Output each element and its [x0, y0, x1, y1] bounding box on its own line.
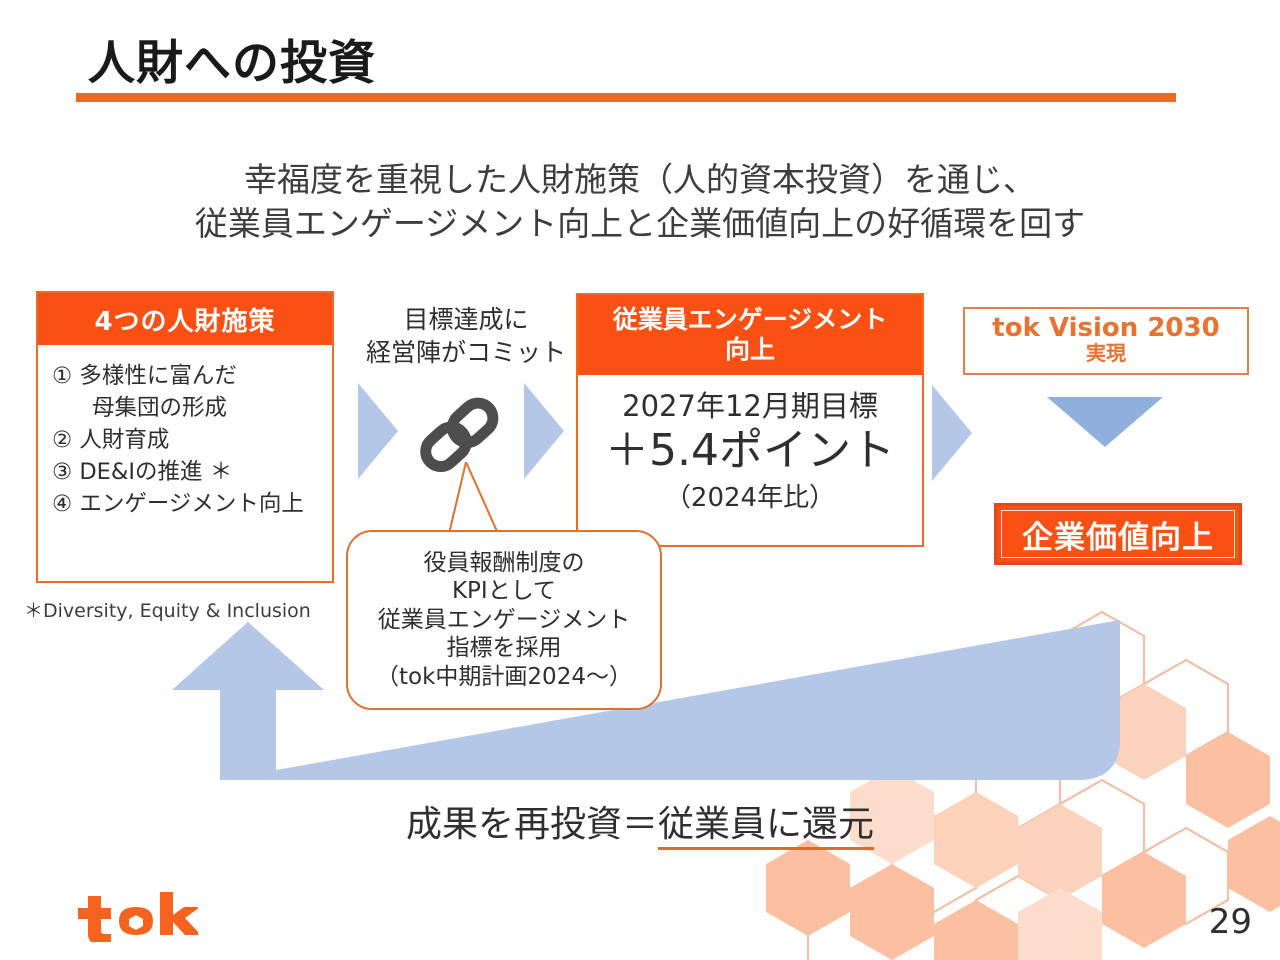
title-underline-rule	[76, 93, 1176, 102]
kpi-callout-line-5: （tok中期計画2024～）	[376, 663, 632, 692]
page-title: 人財への投資	[88, 24, 376, 93]
policy-item-4-text: エンゲージメント向上	[79, 491, 304, 517]
tok-logo	[74, 890, 198, 942]
bottom-caption-underlined: 従業員に還元	[658, 804, 874, 850]
kpi-callout-line-2: KPIとして	[452, 577, 556, 606]
commitment-caption: 目標達成に 経営陣がコミット	[352, 303, 580, 369]
vision-box: tok Vision 2030 実現	[963, 307, 1249, 375]
flow-arrow-middle-icon	[524, 383, 564, 479]
engagement-box-body: 2027年12月期目標 ＋5.4ポイント （2024年比）	[578, 375, 922, 514]
policy-item-2-text: 人財育成	[79, 427, 169, 453]
policy-item-3: ③ DE&Iの推進 ＊	[52, 457, 332, 489]
policy-item-2-number: ②	[52, 427, 72, 453]
policy-item-1: ① 多様性に富んだ	[52, 361, 332, 393]
commitment-line-1: 目標達成に	[352, 303, 580, 336]
engagement-target-value: ＋5.4ポイント	[578, 425, 922, 477]
bottom-caption-prefix: 成果を再投資＝	[406, 804, 658, 845]
policies-box: 4つの人財施策 ① 多様性に富んだ 母集団の形成 ② 人財育成 ③ DE&Iの推…	[36, 291, 334, 583]
policy-item-1-cont: 母集団の形成	[52, 393, 332, 425]
policy-item-4: ④ エンゲージメント向上	[52, 489, 332, 521]
kpi-callout-line-1: 役員報酬制度の	[424, 549, 585, 578]
policies-list: ① 多様性に富んだ 母集団の形成 ② 人財育成 ③ DE&Iの推進 ＊ ④ エン…	[38, 345, 332, 521]
page-number: 29	[1209, 902, 1252, 942]
subtitle-line-2: 従業員エンゲージメント向上と企業価値向上の好循環を回す	[0, 202, 1280, 246]
kpi-callout: 役員報酬制度の KPIとして 従業員エンゲージメント 指標を採用 （tok中期計…	[346, 530, 662, 710]
subtitle-line-1: 幸福度を重視した人財施策（人的資本投資）を通じ、	[0, 158, 1280, 202]
engagement-box: 従業員エンゲージメント 向上 2027年12月期目標 ＋5.4ポイント （202…	[576, 293, 924, 547]
corporate-value-label: 企業価値向上	[1022, 512, 1214, 557]
vision-box-line-2: 実現	[965, 343, 1247, 364]
commitment-line-2: 経営陣がコミット	[352, 336, 580, 369]
policy-item-1-text: 多様性に富んだ	[79, 363, 237, 389]
flow-arrow-left-icon	[358, 383, 398, 479]
engagement-target-label: 2027年12月期目標	[578, 383, 922, 425]
bottom-caption: 成果を再投資＝従業員に還元	[0, 795, 1280, 847]
slide-root: 人財への投資 幸福度を重視した人財施策（人的資本投資）を通じ、 従業員エンゲージ…	[0, 0, 1280, 960]
policy-item-3-text: DE&Iの推進 ＊	[79, 459, 232, 485]
policies-footnote: ＊Diversity, Equity & Inclusion	[24, 596, 311, 623]
kpi-callout-line-3: 従業員エンゲージメント	[378, 606, 631, 635]
flow-arrow-right-icon	[932, 385, 972, 481]
policies-box-header: 4つの人財施策	[38, 293, 332, 345]
engagement-box-header: 従業員エンゲージメント 向上	[578, 295, 922, 375]
flow-arrow-down-icon	[1047, 397, 1163, 447]
vision-box-line-1: tok Vision 2030	[965, 313, 1247, 343]
corporate-value-box: 企業価値向上	[994, 503, 1242, 565]
kpi-callout-line-4: 指標を採用	[447, 634, 562, 663]
policy-item-3-number: ③	[52, 459, 72, 485]
callout-pointer	[440, 462, 510, 538]
engagement-target-basis: （2024年比）	[578, 477, 922, 514]
engagement-header-line-1: 従業員エンゲージメント	[613, 305, 888, 335]
engagement-header-line-2: 向上	[725, 335, 775, 365]
policy-item-1-number: ①	[52, 363, 72, 389]
policy-item-4-number: ④	[52, 491, 72, 517]
policy-item-2: ② 人財育成	[52, 425, 332, 457]
subtitle: 幸福度を重視した人財施策（人的資本投資）を通じ、 従業員エンゲージメント向上と企…	[0, 158, 1280, 246]
